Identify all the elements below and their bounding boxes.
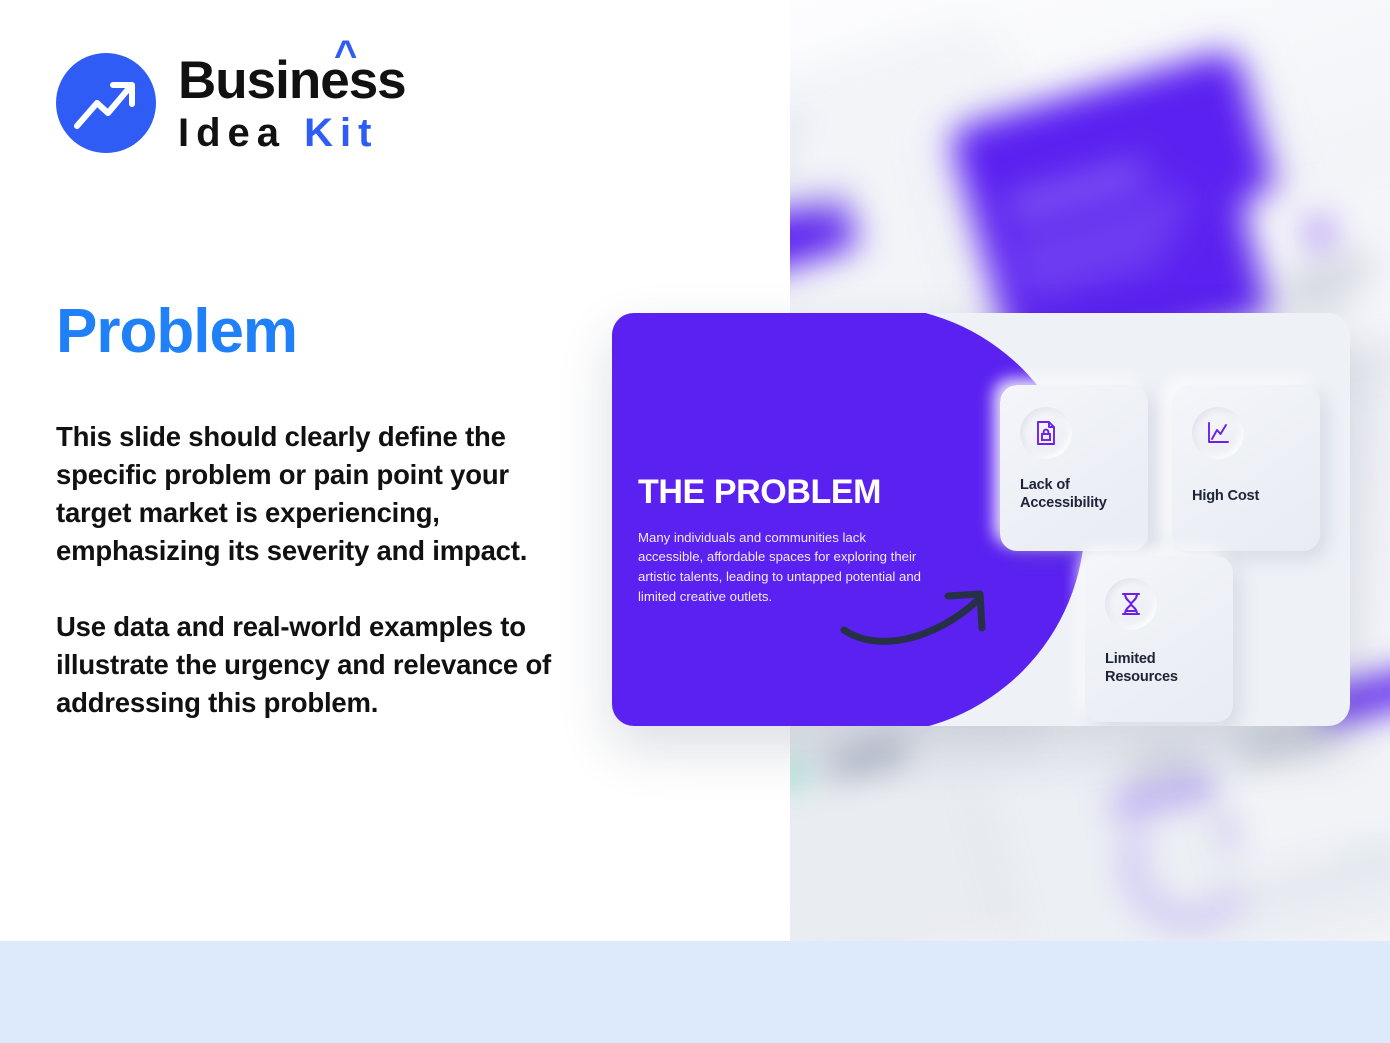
page-title: Problem	[56, 296, 297, 367]
line-chart-icon	[1192, 407, 1244, 459]
body-paragraph-1: This slide should clearly define the spe…	[56, 418, 576, 570]
brand-accent-mark: ^	[334, 35, 356, 75]
feature-card-high-cost[interactable]: High Cost	[1172, 385, 1320, 551]
page-body-copy: This slide should clearly define the spe…	[56, 418, 576, 722]
slide-page: Business ^ Idea Kit Problem This slide s…	[0, 0, 1390, 1043]
brand-name-top: Business ^	[178, 54, 406, 107]
feature-card-limited-resources[interactable]: Limited Resources	[1085, 556, 1233, 722]
feature-label: High Cost	[1192, 488, 1310, 506]
document-lock-icon	[1020, 407, 1072, 459]
hourglass-icon	[1105, 578, 1157, 630]
brand-name-bottom: Idea Kit	[178, 113, 406, 153]
footer-band	[0, 941, 1390, 1043]
feature-label: Limited Resources	[1105, 651, 1223, 687]
curved-arrow-icon	[840, 578, 1010, 653]
body-paragraph-2: Use data and real-world examples to illu…	[56, 608, 576, 722]
growth-arrow-circle-icon	[56, 53, 156, 153]
brand-logo: Business ^ Idea Kit	[56, 53, 406, 153]
slide-preview-card[interactable]: THE PROBLEM Many individuals and communi…	[612, 313, 1350, 726]
feature-label: Lack of Accessibility	[1020, 477, 1138, 513]
brand-wordmark: Business ^ Idea Kit	[178, 54, 406, 153]
slide-title: THE PROBLEM	[638, 475, 938, 511]
feature-card-lack-of-accessibility[interactable]: Lack of Accessibility	[1000, 385, 1148, 551]
